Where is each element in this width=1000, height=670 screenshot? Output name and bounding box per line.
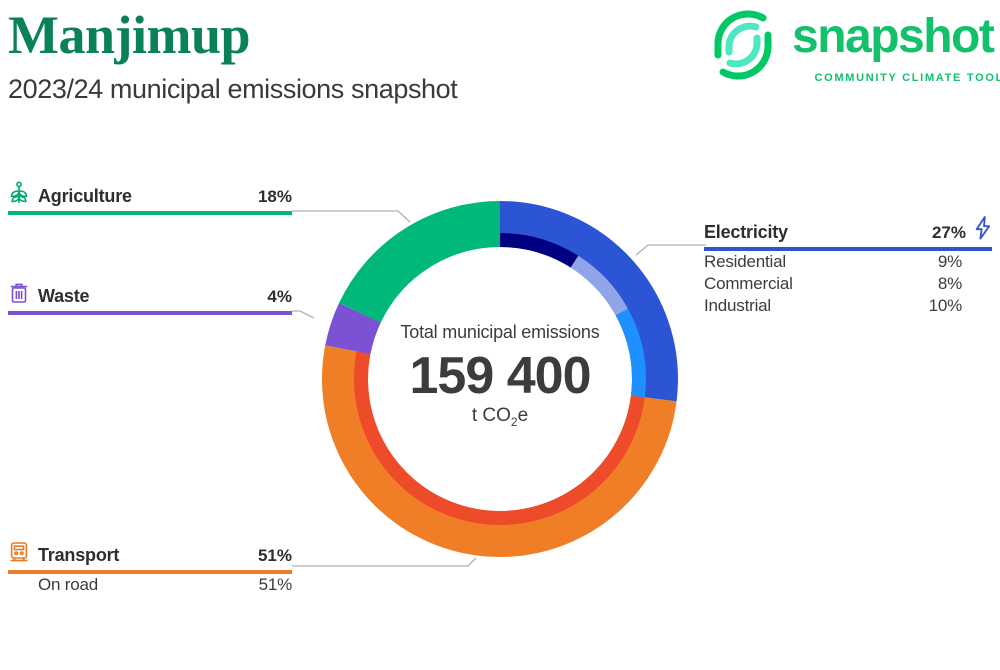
page-subtitle: 2023/24 municipal emissions snapshot bbox=[8, 72, 457, 106]
legend-electricity-sub-industrial: Industrial 10% bbox=[704, 295, 962, 317]
emissions-donut-chart bbox=[300, 179, 700, 579]
legend-agriculture[interactable]: Agriculture 18% bbox=[8, 181, 292, 215]
snapshot-logo: snapshot COMMUNITY CLIMATE TOOL bbox=[706, 4, 1000, 90]
page-title: Manjimup bbox=[8, 4, 250, 66]
sub-label: On road bbox=[38, 574, 98, 596]
sprout-icon bbox=[8, 181, 30, 205]
legend-transport-percent: 51% bbox=[258, 546, 292, 566]
legend-transport-head: Transport 51% bbox=[8, 540, 292, 566]
legend-agriculture-head: Agriculture 18% bbox=[8, 181, 292, 207]
lightning-bolt-icon bbox=[972, 215, 994, 239]
legend-transport-sub-on-road: On road 51% bbox=[38, 574, 292, 596]
legend-electricity[interactable]: Electricity 27% Residential 9% Commercia… bbox=[704, 217, 992, 317]
legend-electricity-percent: 27% bbox=[932, 223, 966, 243]
legend-waste-rule bbox=[8, 311, 292, 315]
legend-waste-percent: 4% bbox=[267, 287, 292, 307]
legend-waste-head: Waste 4% bbox=[8, 281, 292, 307]
sub-percent: 51% bbox=[259, 574, 292, 596]
sub-label: Commercial bbox=[704, 273, 793, 295]
legend-agriculture-percent: 18% bbox=[258, 187, 292, 207]
sub-percent: 8% bbox=[938, 273, 962, 295]
sub-percent: 10% bbox=[929, 295, 962, 317]
legend-waste-label: Waste bbox=[38, 286, 89, 307]
legend-agriculture-label: Agriculture bbox=[38, 186, 132, 207]
trash-bin-icon bbox=[8, 281, 30, 305]
spiral-s-icon bbox=[706, 8, 780, 82]
logo-wordmark: snapshot bbox=[792, 10, 993, 64]
legend-waste[interactable]: Waste 4% bbox=[8, 281, 292, 315]
legend-electricity-label: Electricity bbox=[704, 222, 788, 243]
logo-tagline: COMMUNITY CLIMATE TOOL bbox=[794, 72, 1000, 84]
sub-label: Residential bbox=[704, 251, 786, 273]
train-icon bbox=[8, 540, 30, 564]
emissions-snapshot-page: Manjimup 2023/24 municipal emissions sna… bbox=[0, 0, 1000, 670]
sub-percent: 9% bbox=[938, 251, 962, 273]
legend-electricity-sub-residential: Residential 9% bbox=[704, 251, 962, 273]
legend-transport[interactable]: Transport 51% On road 51% bbox=[8, 540, 292, 596]
legend-transport-label: Transport bbox=[38, 545, 119, 566]
sub-label: Industrial bbox=[704, 295, 771, 317]
legend-electricity-head: Electricity 27% bbox=[704, 217, 992, 243]
legend-electricity-sub-commercial: Commercial 8% bbox=[704, 273, 962, 295]
legend-agriculture-rule bbox=[8, 211, 292, 215]
